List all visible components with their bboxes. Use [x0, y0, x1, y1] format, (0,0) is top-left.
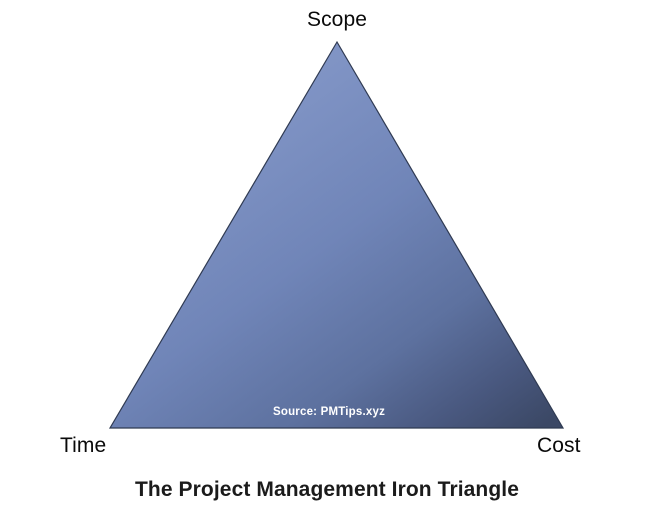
triangle-shape — [110, 42, 563, 428]
iron-triangle-diagram: Scope Time Cost Source: PMTips.xyz The P… — [0, 0, 654, 516]
source-credit: Source: PMTips.xyz — [2, 406, 654, 418]
vertex-label-scope: Scope — [20, 8, 654, 32]
vertex-label-time: Time — [60, 434, 106, 458]
diagram-caption: The Project Management Iron Triangle — [0, 478, 654, 502]
vertex-label-cost: Cost — [537, 434, 581, 458]
